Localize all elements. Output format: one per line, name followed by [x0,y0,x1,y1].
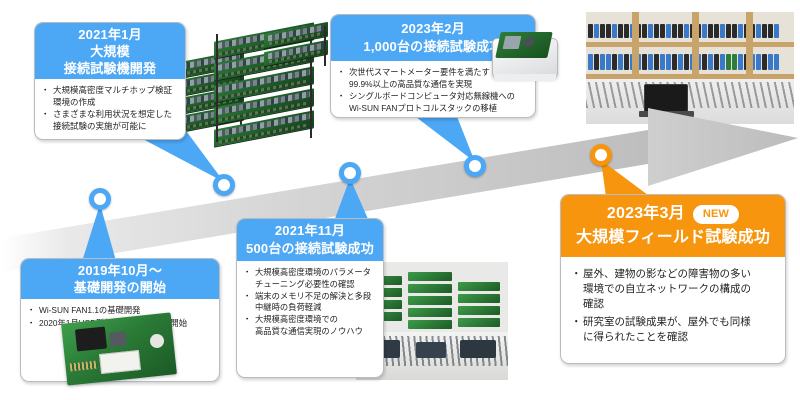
marker-2023-03[interactable] [590,144,612,166]
card-2021-11-body: 大規模高密度環境のパラメータ チューニング必要性の確認 端末のメモリ不足の解決と… [237,261,383,345]
list-item: 大規模高密度環境での 高品質な通信実現のノウハウ [245,314,376,338]
marker-2021-01[interactable] [213,174,235,196]
card-2023-02-date: 2023年2月 [401,20,465,38]
marker-2021-11[interactable] [339,162,361,184]
card-2021-01-body: 大規模高密度マルチホップ検証 環境の作成 さまざまな利用状況を想定した 接続試験… [35,79,185,140]
status-badge-new: NEW [693,205,739,224]
list-item: 大規模高密度環境のパラメータ チューニング必要性の確認 [245,267,376,291]
list-item: 端末のメモリ不足の解決と多段 中継時の負荷軽減 [245,291,376,315]
card-2021-11-date: 2021年11月 [275,222,345,240]
card-2021-01-date: 2021年1月 [78,26,142,43]
photo-usb-module [64,318,174,380]
card-2019-10-title: 基礎開発の開始 [74,279,166,296]
card-2021-01-header: 2021年1月 大規模 接続試験機開発 [35,23,185,79]
photo-single-board-device [488,28,564,94]
card-2023-03-header: 2023年3月 NEW 大規模フィールド試験成功 [561,195,785,257]
list-item: Wi-SUN FAN1.1の基礎開発 [29,305,212,317]
card-2019-10-date: 2019年10月〜 [78,262,162,279]
card-2021-01[interactable]: 2021年1月 大規模 接続試験機開発 大規模高密度マルチホップ検証 環境の作成… [34,22,186,140]
list-item: 屋外、建物の影などの障害物の多い 環境での自立ネットワークの構成の 確認 [573,267,775,312]
list-item: さまざまな利用状況を想定した 接続試験の実施が可能に [43,109,178,132]
card-2021-01-title-2: 接続試験機開発 [64,60,156,77]
card-2023-03-body: 屋外、建物の影などの障害物の多い 環境での自立ネットワークの構成の 確認 研究室… [561,257,785,354]
card-2021-11-header: 2021年11月 500台の接続試験成功 [237,219,383,261]
card-2023-02-title: 1,000台の接続試験成功 [363,38,502,56]
card-2023-03[interactable]: 2023年3月 NEW 大規模フィールド試験成功 屋外、建物の影などの障害物の多… [560,194,786,364]
card-2019-10-header: 2019年10月〜 基礎開発の開始 [21,259,219,299]
marker-2023-02[interactable] [464,155,486,177]
list-item: シングルボードコンピュータ対応無線機への Wi-SUN FANプロトコルスタック… [339,91,528,114]
list-item: 大規模高密度マルチホップ検証 環境の作成 [43,85,178,108]
card-2021-11-title: 500台の接続試験成功 [246,240,374,258]
marker-2019-10[interactable] [89,188,111,210]
card-2021-01-title-1: 大規模 [90,43,130,60]
list-item: 研究室の試験成果が、屋外でも同様 に得られたことを確認 [573,315,775,345]
card-2023-03-title: 大規模フィールド試験成功 [576,226,770,250]
card-2023-03-date: 2023年3月 [607,202,685,226]
card-2021-11[interactable]: 2021年11月 500台の接続試験成功 大規模高密度環境のパラメータ チューニ… [236,218,384,378]
timeline-infographic: 2021年1月 大規模 接続試験機開発 大規模高密度マルチホップ検証 環境の作成… [0,0,800,400]
